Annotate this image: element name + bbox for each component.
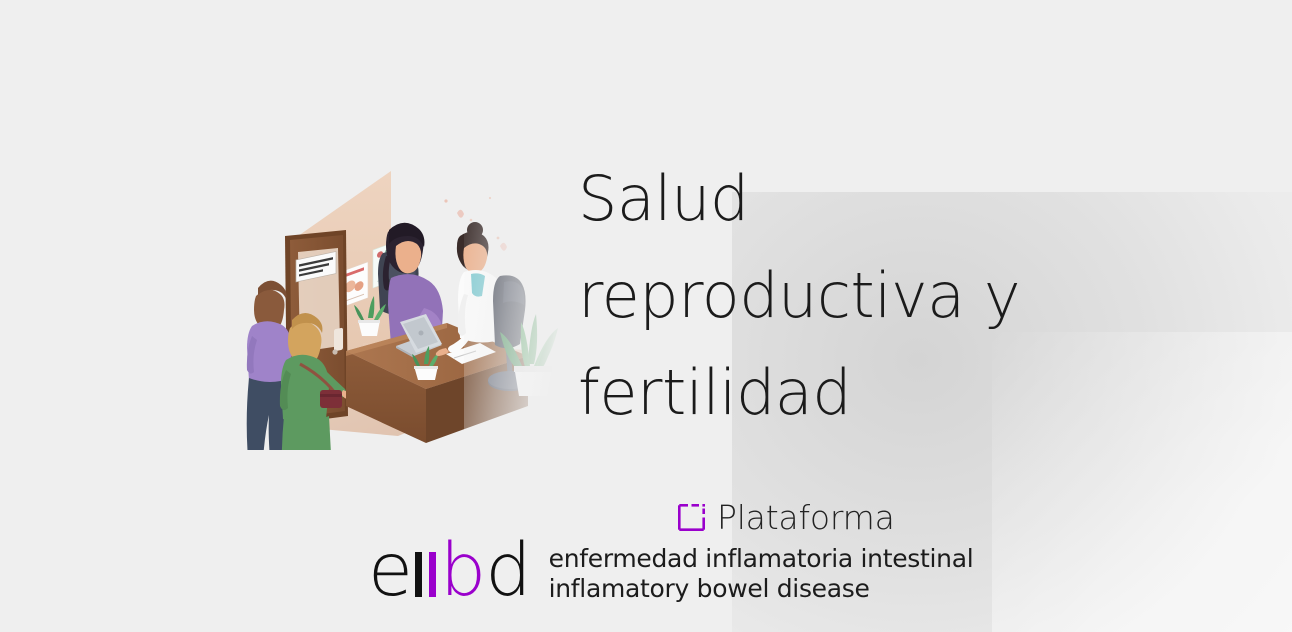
eiibd-logo-lockup: Plataforma ebd enfermedad inflamatoria i… [368,497,878,607]
wordmark-letter-i-black [415,552,422,597]
wordmark-letter-b: b [440,528,485,613]
slide-canvas: Salud reproductiva y fertilidad [0,0,1292,632]
wordmark-letter-i-purple [429,552,436,597]
frame-bracket-icon [678,504,705,531]
logo-tagline: enfermedad inflamatoria intestinal infla… [549,534,974,604]
wordmark-letter-e: e [368,528,412,613]
plataforma-label: Plataforma [717,501,895,534]
page-title: Salud reproductiva y fertilidad [578,150,1088,441]
wordmark-row: ebd enfermedad inflamatoria intestinal i… [368,534,973,604]
tagline-english: inflamatory bowel disease [549,574,870,603]
plataforma-row: Plataforma [678,497,895,537]
title-line-1: Salud [578,150,1088,247]
clinic-illustration [228,168,562,450]
wordmark-letter-d: d [485,528,530,613]
tagline-spanish: enfermedad inflamatoria intestinal [549,544,974,573]
title-line-2: reproductiva y [578,247,1088,344]
title-line-3: fertilidad [578,344,1088,441]
eiibd-wordmark: ebd [368,536,531,606]
